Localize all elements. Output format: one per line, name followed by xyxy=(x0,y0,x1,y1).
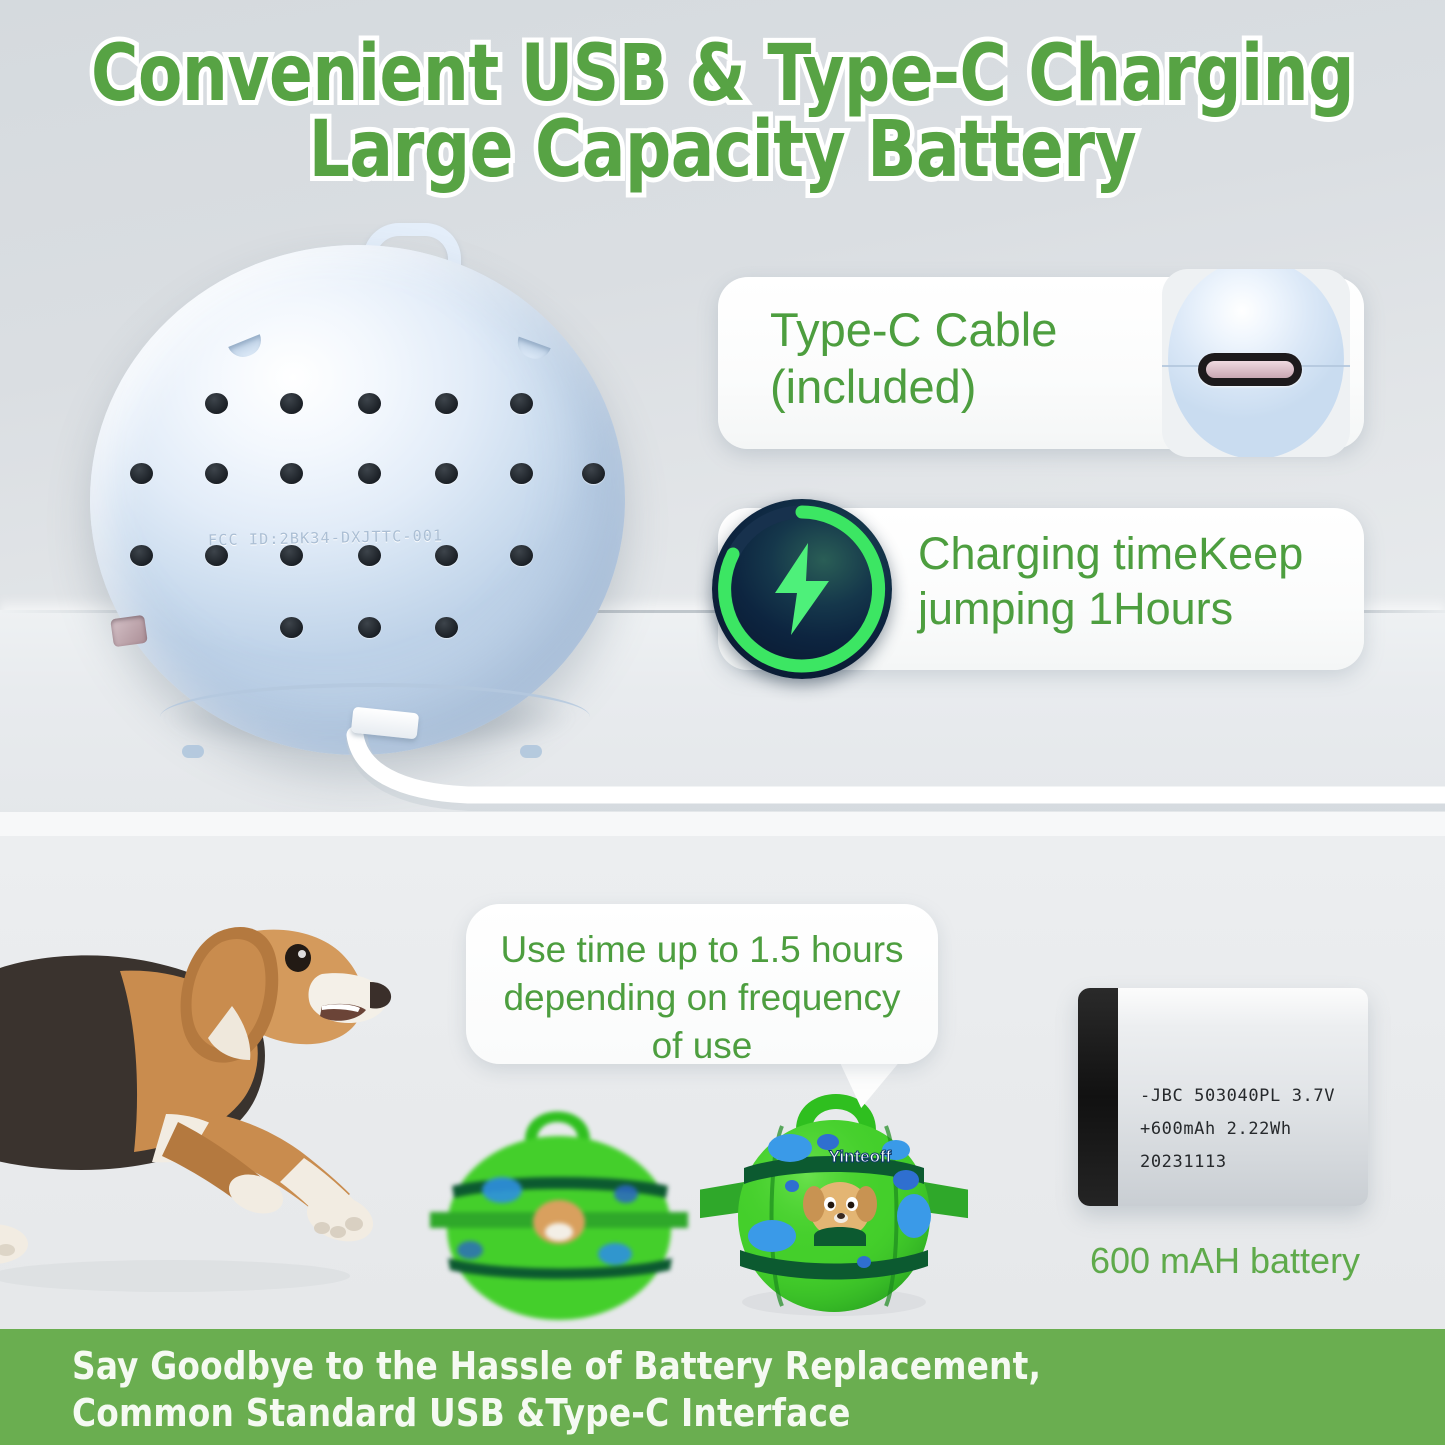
battery-terminal-tab xyxy=(1078,988,1118,1206)
card-type-c-line1: Type-C Cable xyxy=(770,301,1170,358)
speaker-hole xyxy=(280,463,303,484)
bottom-panel: Use time up to 1.5 hours depending on fr… xyxy=(0,836,1445,1329)
speaker-hole xyxy=(435,545,458,566)
speaker-hole xyxy=(510,463,533,484)
use-time-line2: depending on frequency xyxy=(494,974,910,1022)
toy-dog-graphic xyxy=(803,1182,877,1246)
vent-slot-left xyxy=(228,334,266,362)
use-time-bubble[interactable]: Use time up to 1.5 hours depending on fr… xyxy=(466,904,938,1064)
infographic-page: FCC ID:2BK34-DXJTTC-001 Type-C Cable (in… xyxy=(0,0,1445,1445)
banner-line1: Say Goodbye to the Hassle of Battery Rep… xyxy=(72,1343,1320,1390)
use-time-line3: of use xyxy=(494,1022,910,1070)
card-charging-text: Charging timeKeep jumping 1Hours xyxy=(918,526,1338,636)
card-type-c-line2: (included) xyxy=(770,358,1170,415)
product-ball-photo: FCC ID:2BK34-DXJTTC-001 xyxy=(75,205,700,750)
panel-divider xyxy=(0,812,1445,838)
speaker-hole xyxy=(205,463,228,484)
ball-foot-right xyxy=(520,745,542,758)
speaker-hole xyxy=(205,393,228,414)
speaker-hole xyxy=(358,463,381,484)
card-charging-time[interactable]: Charging timeKeep jumping 1Hours xyxy=(718,508,1364,670)
card-charging-line1: Charging timeKeep xyxy=(918,526,1338,581)
usb-c-port-icon xyxy=(1162,269,1350,457)
use-time-text: Use time up to 1.5 hours depending on fr… xyxy=(494,926,910,1070)
ball-body: FCC ID:2BK34-DXJTTC-001 xyxy=(90,245,625,755)
battery-caption: 600 mAH battery xyxy=(1040,1240,1410,1282)
ball-foot-left xyxy=(182,745,204,758)
battery-photo: -JBC 503040PL 3.7V +600mAh 2.22Wh 202311… xyxy=(1078,988,1368,1206)
battery-print-line1: -JBC 503040PL 3.7V xyxy=(1140,1080,1360,1113)
speaker-hole xyxy=(510,393,533,414)
speaker-hole xyxy=(510,545,533,566)
speaker-hole xyxy=(435,617,458,638)
speaker-hole xyxy=(280,545,303,566)
card-type-c-cable[interactable]: Type-C Cable (included) xyxy=(718,277,1364,449)
speaker-hole xyxy=(130,545,153,566)
usb-c-port-inner xyxy=(1206,361,1294,378)
use-time-line1: Use time up to 1.5 hours xyxy=(494,926,910,974)
fcc-id-label: FCC ID:2BK34-DXJTTC-001 xyxy=(208,525,528,550)
speaker-hole xyxy=(582,463,605,484)
toy-brand-text: Yinteoff xyxy=(829,1147,892,1166)
battery-print-line2: +600mAh 2.22Wh 20231113 xyxy=(1140,1113,1360,1179)
vent-slot-right xyxy=(513,337,550,364)
speaker-hole xyxy=(280,617,303,638)
toy-ball-main: Yinteoff xyxy=(700,1064,968,1322)
speaker-hole xyxy=(358,393,381,414)
charging-bolt-icon xyxy=(712,499,892,679)
top-panel: FCC ID:2BK34-DXJTTC-001 Type-C Cable (in… xyxy=(0,0,1445,822)
speaker-hole xyxy=(358,545,381,566)
speaker-hole xyxy=(280,393,303,414)
side-port-slot xyxy=(110,615,148,647)
battery-print-text: -JBC 503040PL 3.7V +600mAh 2.22Wh 202311… xyxy=(1140,1080,1360,1179)
banner-text: Say Goodbye to the Hassle of Battery Rep… xyxy=(72,1343,1320,1437)
card-type-c-text: Type-C Cable (included) xyxy=(770,301,1170,415)
beagle-dog-photo xyxy=(0,846,440,1306)
speaker-hole xyxy=(435,393,458,414)
speaker-hole xyxy=(358,617,381,638)
bottom-banner: Say Goodbye to the Hassle of Battery Rep… xyxy=(0,1329,1445,1445)
speaker-hole xyxy=(130,463,153,484)
banner-line2: Common Standard USB &Type-C Interface xyxy=(72,1390,1320,1437)
lightning-bolt-icon xyxy=(767,541,837,637)
speaker-hole xyxy=(435,463,458,484)
toy-ball-blurred xyxy=(430,1082,688,1322)
card-charging-line2: jumping 1Hours xyxy=(918,581,1338,636)
